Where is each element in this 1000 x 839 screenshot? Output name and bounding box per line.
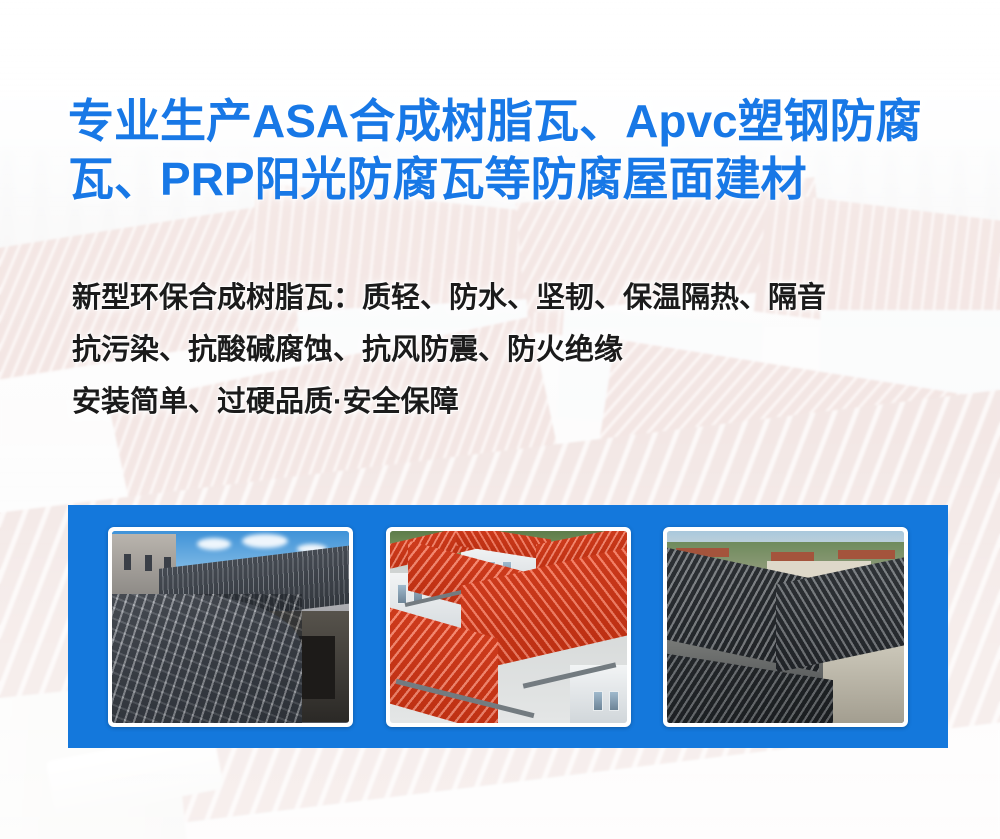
product-photo-3[interactable] xyxy=(663,527,908,727)
product-banner: 专业生产ASA合成树脂瓦、Apvc塑钢防腐瓦、PRP阳光防腐瓦等防腐屋面建材 新… xyxy=(0,0,1000,839)
feature-line-3: 安装简单、过硬品质·安全保障 xyxy=(72,376,952,428)
page-title: 专业生产ASA合成树脂瓦、Apvc塑钢防腐瓦、PRP阳光防腐瓦等防腐屋面建材 xyxy=(68,92,958,208)
dark-grey-village-roof-image xyxy=(667,531,904,723)
feature-line-1: 新型环保合成树脂瓦：质轻、防水、坚韧、保温隔热、隔音 xyxy=(72,272,952,324)
red-resin-tile-roof-image xyxy=(390,531,627,723)
feature-line-2: 抗污染、抗酸碱腐蚀、抗风防震、防火绝缘 xyxy=(72,324,952,376)
grey-glazed-tile-roof-image xyxy=(112,531,349,723)
product-photo-gallery xyxy=(68,505,948,748)
product-photo-2[interactable] xyxy=(386,527,631,727)
product-photo-1[interactable] xyxy=(108,527,353,727)
feature-list: 新型环保合成树脂瓦：质轻、防水、坚韧、保温隔热、隔音 抗污染、抗酸碱腐蚀、抗风防… xyxy=(72,272,952,428)
